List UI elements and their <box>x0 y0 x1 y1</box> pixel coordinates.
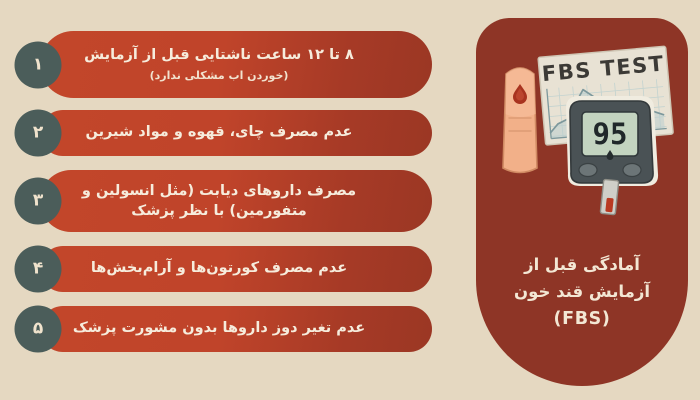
tip-row: عدم تغیر دوز داروها بدون مشورت پزشک ۵ <box>40 306 432 352</box>
finger-icon <box>503 68 537 173</box>
tip-row: مصرف داروهای دیابت (مثل انسولین و متفورم… <box>40 170 432 232</box>
tip-pill-5: عدم تغیر دوز داروها بدون مشورت پزشک ۵ <box>40 306 432 352</box>
tip-number-badge: ۲ <box>15 110 62 157</box>
glucometer-icon: 95 <box>566 96 658 215</box>
tip-row: عدم مصرف کورتون‌ها و آرام‌بخش‌ها ۴ <box>40 246 432 292</box>
glucose-test-illustration: FBS TEST 95 <box>484 30 682 235</box>
tip-pill-2: عدم مصرف چای، قهوه و مواد شیرین ۲ <box>40 110 432 156</box>
meter-reading-text: 95 <box>593 117 628 151</box>
tip-row: عدم مصرف چای، قهوه و مواد شیرین ۲ <box>40 110 432 156</box>
tip-pill-4: عدم مصرف کورتون‌ها و آرام‌بخش‌ها ۴ <box>40 246 432 292</box>
tip-text: عدم مصرف کورتون‌ها و آرام‌بخش‌ها <box>91 259 347 279</box>
page-title: آمادگی قبل از آزمایش قند خون (FBS) <box>476 252 688 334</box>
title-line-3: (FBS) <box>486 305 678 333</box>
title-line-1: آمادگی قبل از <box>486 252 678 279</box>
tip-text: ۸ تا ۱۲ ساعت ناشتایی قبل از آزمایش <box>84 46 354 66</box>
tip-number-badge: ۴ <box>15 246 62 293</box>
tip-subtext: (خوردن اب مشکلی ندارد) <box>150 69 289 83</box>
infographic-root: ۸ تا ۱۲ ساعت ناشتایی قبل از آزمایش (خورد… <box>0 0 700 400</box>
tip-number-badge: ۵ <box>15 306 62 353</box>
tip-pill-3: مصرف داروهای دیابت (مثل انسولین و متفورم… <box>40 170 432 232</box>
tip-text: مصرف داروهای دیابت (مثل انسولین و متفورم… <box>69 181 369 222</box>
tip-pill-1: ۸ تا ۱۲ ساعت ناشتایی قبل از آزمایش (خورد… <box>40 31 432 98</box>
title-panel: FBS TEST 95 <box>476 18 688 386</box>
tips-list: ۸ تا ۱۲ ساعت ناشتایی قبل از آزمایش (خورد… <box>0 0 480 400</box>
title-line-2: آزمایش قند خون <box>486 279 678 306</box>
tip-number-badge: ۱ <box>15 41 62 88</box>
tip-text: عدم تغیر دوز داروها بدون مشورت پزشک <box>73 319 365 339</box>
tip-number-badge: ۳ <box>15 178 62 225</box>
tip-text: عدم مصرف چای، قهوه و مواد شیرین <box>86 123 353 143</box>
tip-row: ۸ تا ۱۲ ساعت ناشتایی قبل از آزمایش (خورد… <box>40 31 432 98</box>
